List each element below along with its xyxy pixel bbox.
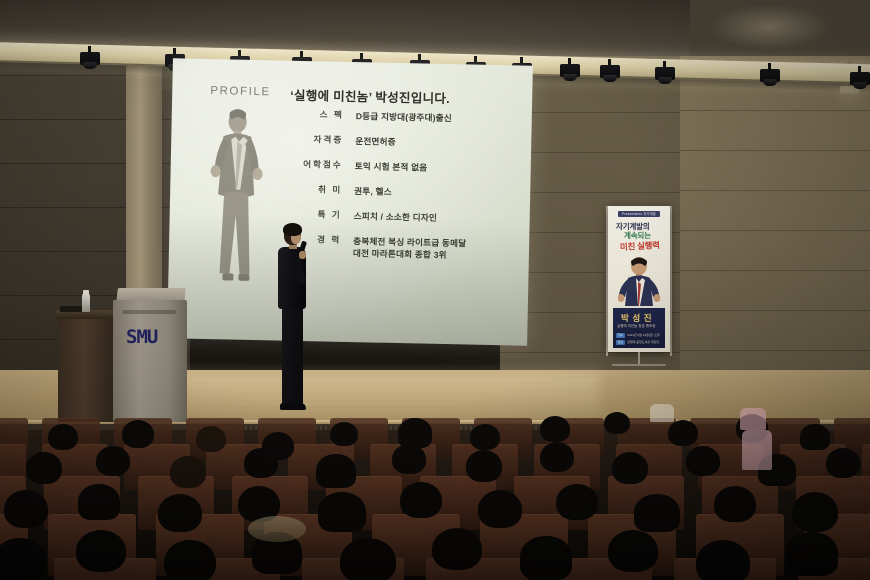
- audience-head: [432, 528, 482, 570]
- audience-head: [76, 530, 126, 572]
- audience-head: [668, 420, 698, 446]
- audience-head: [196, 426, 226, 452]
- banner-pole-right: [670, 206, 672, 356]
- spotlight-icon: [80, 52, 100, 65]
- spotlight-icon: [850, 72, 870, 85]
- banner-foot: [612, 364, 666, 366]
- banner-detail-row: 장소상명대 중앙도서관 대강당: [616, 339, 660, 345]
- audience-head: [466, 450, 502, 482]
- audience-head: [826, 448, 860, 478]
- audience-head: [478, 490, 522, 528]
- papers-on-table: [60, 306, 82, 312]
- audience-head: [96, 446, 130, 476]
- wall-plank: [680, 150, 870, 151]
- audience-head: [26, 452, 62, 484]
- audience-fur-hood: [248, 516, 306, 542]
- spotlight-icon: [760, 69, 780, 82]
- wall-plank: [680, 270, 870, 271]
- audience-head: [400, 482, 442, 518]
- audience-head: [48, 424, 78, 450]
- audience-head: [696, 540, 750, 580]
- spotlight-icon: [655, 67, 675, 80]
- audience-head: [686, 446, 720, 476]
- banner-detail-row: 일시2014년 3월 14일(금) 오후 2시: [616, 332, 660, 338]
- audience-head: [244, 448, 278, 478]
- audience-garment: [742, 430, 772, 470]
- audience-head: [612, 452, 648, 484]
- screen-vignette: [167, 58, 533, 345]
- wall-plank: [680, 310, 870, 311]
- stage-speaker: [272, 225, 312, 421]
- spotlight-icon: [560, 64, 580, 77]
- speaker-hair: [283, 223, 302, 236]
- side-table: [58, 318, 116, 422]
- banner-top-bar: Presentation 자기계발: [618, 211, 660, 217]
- speaker-legs: [282, 307, 303, 405]
- audience-garment: [650, 404, 674, 422]
- audience-head: [470, 424, 500, 450]
- audience-head: [540, 416, 570, 442]
- audience-head: [318, 492, 366, 532]
- banner-speaker-sub: 실행에 미친놈 청춘 멘토링: [617, 323, 656, 328]
- banner-detail-tag: 장소: [616, 340, 625, 345]
- banner-canvas: Presentation 자기계발 자기계발의 계속되는 미친 실행력: [608, 206, 670, 352]
- audience-head: [714, 486, 756, 522]
- auditorium-photo: PROFILE ‘실행에 미친놈’ 박성진입니다.: [0, 0, 870, 580]
- audience-head: [786, 532, 838, 576]
- audience-head: [800, 424, 830, 450]
- audience-head: [78, 484, 120, 520]
- audience-head: [340, 538, 396, 580]
- water-bottle-cap: [83, 290, 89, 295]
- podium-slot: [122, 310, 176, 314]
- audience-head: [520, 536, 572, 580]
- audience-head: [392, 444, 426, 474]
- audience-head: [122, 420, 154, 448]
- audience-head: [608, 530, 658, 572]
- speaker-shoes: [280, 403, 306, 410]
- wall-plank: [680, 230, 870, 231]
- audience-head: [330, 422, 358, 446]
- audience-house: [0, 430, 870, 580]
- audience-head: [792, 492, 838, 532]
- banner-speaker-photo: [618, 254, 660, 306]
- audience-head: [4, 490, 48, 528]
- audience-head: [556, 484, 598, 520]
- audience-head: [316, 454, 356, 488]
- wall-plank: [680, 350, 870, 351]
- audience-head: [398, 418, 432, 448]
- rollup-banner: Presentation 자기계발 자기계발의 계속되는 미친 실행력: [604, 206, 674, 366]
- audience-garment: [740, 408, 766, 430]
- wall-plank: [680, 110, 870, 111]
- projection-screen: PROFILE ‘실행에 미친놈’ 박성진입니다.: [167, 58, 533, 345]
- spotlight-icon: [600, 65, 620, 78]
- speaker-hand: [299, 251, 306, 259]
- audience-head: [634, 494, 680, 532]
- banner-line-3: 미친 실행력: [620, 239, 660, 253]
- podium: [113, 300, 187, 422]
- audience-head: [604, 412, 630, 434]
- audience-head: [164, 540, 216, 580]
- audience-head: [540, 442, 574, 472]
- audience-head: [0, 538, 46, 580]
- wall-right: [680, 56, 870, 386]
- banner-detail-tag: 일시: [616, 333, 625, 338]
- water-bottle: [82, 294, 90, 312]
- audience-head: [170, 456, 206, 488]
- banner-detail-text: 상명대 중앙도서관 대강당: [627, 340, 659, 344]
- audience-head: [158, 494, 202, 532]
- ceiling-glow: [710, 4, 830, 50]
- wall-plank: [680, 190, 870, 191]
- podium-logo: SMU: [126, 326, 157, 348]
